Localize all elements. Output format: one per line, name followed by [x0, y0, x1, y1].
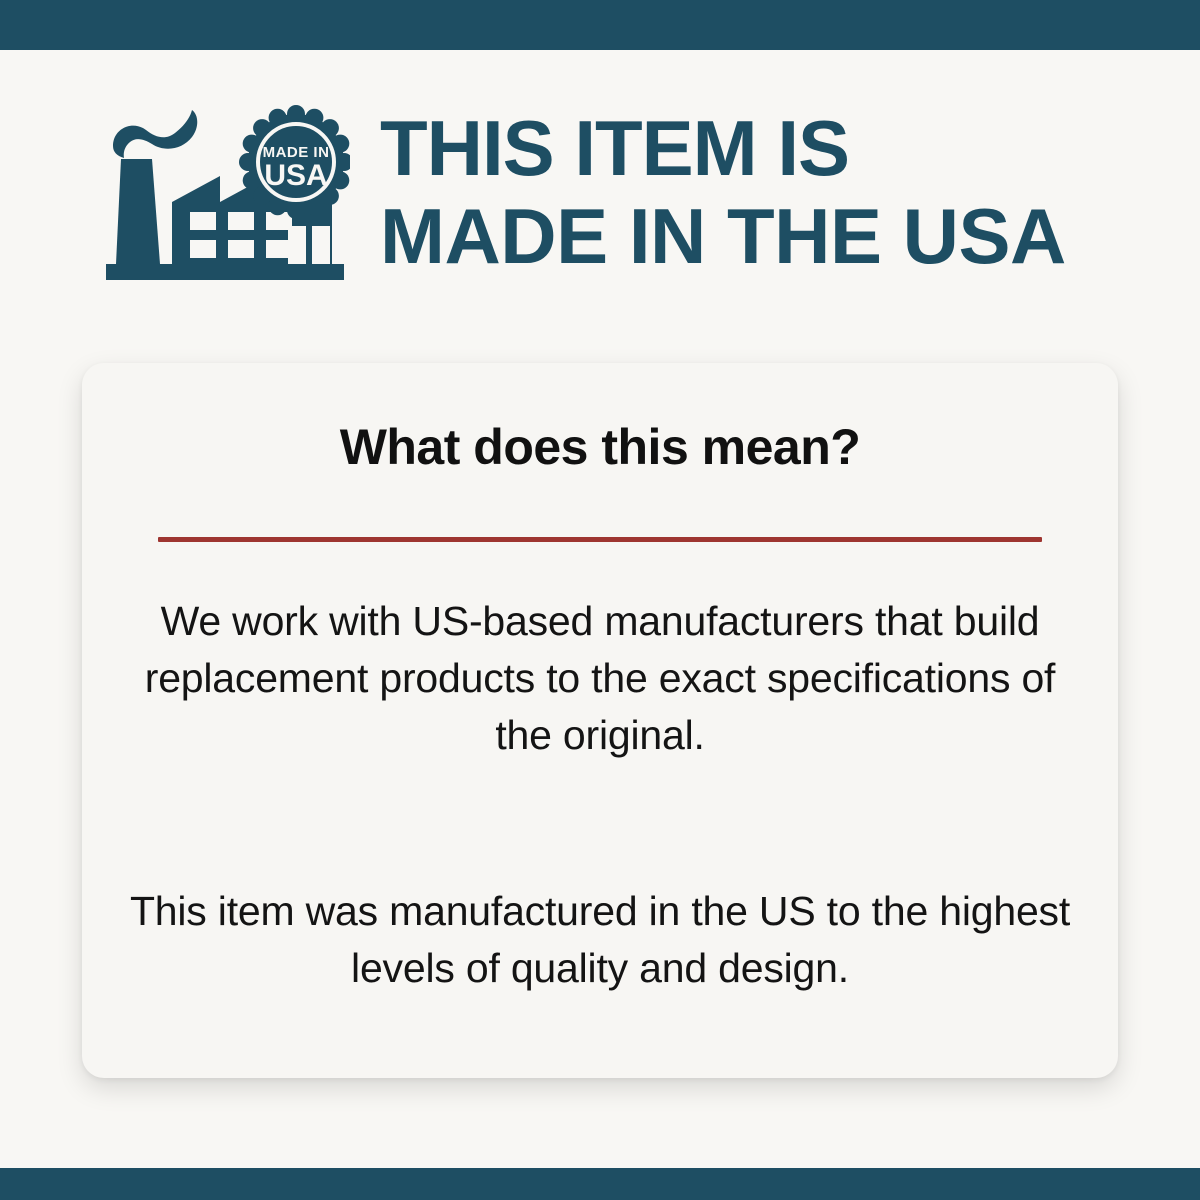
page-title: THIS ITEM IS MADE IN THE USA [380, 104, 1170, 280]
title-divider [158, 537, 1042, 542]
top-accent-bar [0, 0, 1200, 50]
page-root: MADE IN USA THIS ITEM IS MADE IN THE USA… [0, 0, 1200, 1200]
svg-text:USA: USA [264, 159, 327, 192]
page-title-line-2: MADE IN THE USA [380, 192, 1170, 280]
card-paragraph-1: We work with US-based manufacturers that… [112, 593, 1088, 764]
made-in-usa-seal-icon: MADE IN USA [239, 105, 350, 219]
info-card: What does this mean? We work with US-bas… [82, 363, 1118, 1078]
header: MADE IN USA THIS ITEM IS MADE IN THE USA [0, 50, 1200, 350]
card-title: What does this mean? [82, 418, 1118, 476]
card-paragraph-2: This item was manufactured in the US to … [112, 883, 1088, 997]
bottom-accent-bar [0, 1168, 1200, 1200]
factory-icon: MADE IN USA [100, 102, 350, 282]
page-title-line-1: THIS ITEM IS [380, 104, 1170, 192]
